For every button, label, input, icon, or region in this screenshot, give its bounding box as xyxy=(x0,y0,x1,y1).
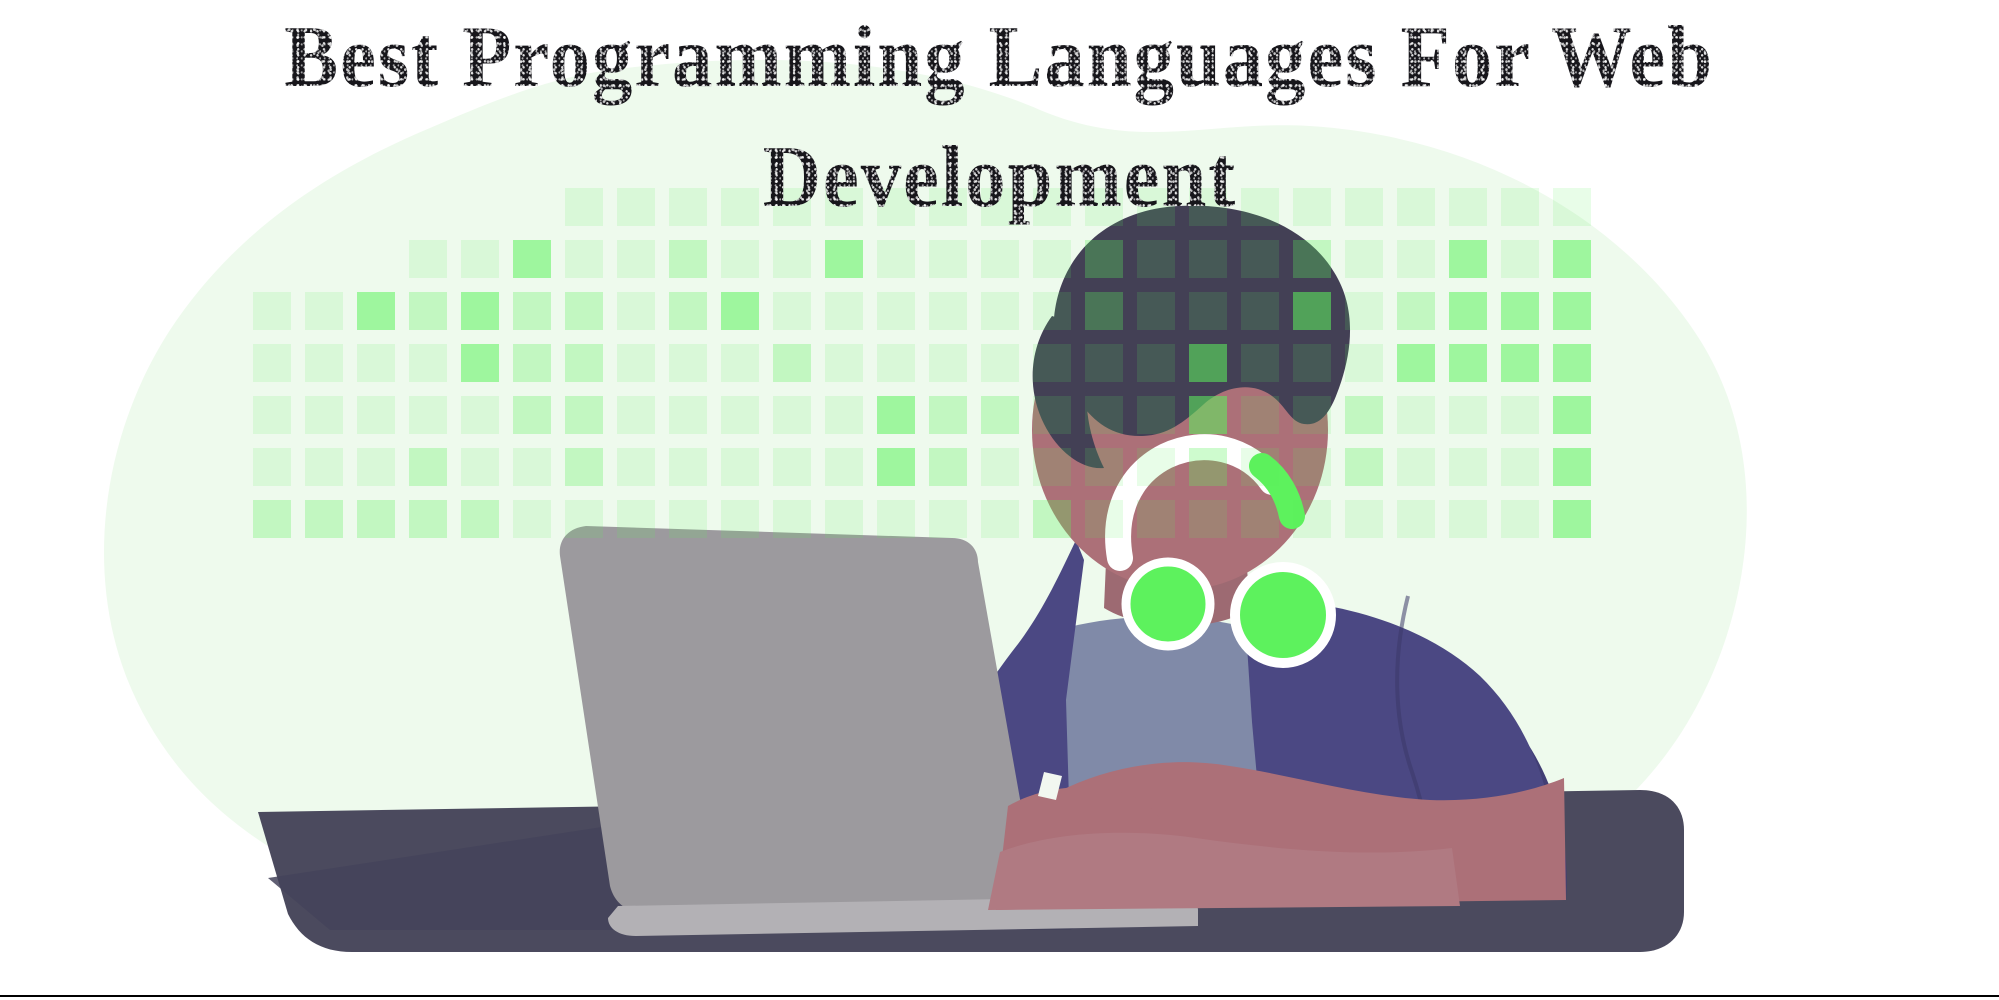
grid-cell xyxy=(1345,448,1383,486)
grid-cell xyxy=(825,344,863,382)
grid-cell xyxy=(565,396,603,434)
grid-cell xyxy=(929,448,967,486)
grid-cell xyxy=(1449,188,1487,226)
grid-cell xyxy=(721,240,759,278)
grid-cell xyxy=(513,500,551,538)
grid-cell xyxy=(565,188,603,226)
grid-cell xyxy=(825,292,863,330)
grid-cell xyxy=(1449,240,1487,278)
grid-cell xyxy=(409,240,447,278)
grid-cell xyxy=(721,344,759,382)
grid-cell xyxy=(773,448,811,486)
grid-cell xyxy=(1553,396,1591,434)
grid-cell xyxy=(1397,500,1435,538)
grid-cell xyxy=(877,448,915,486)
grid-cell xyxy=(1345,240,1383,278)
grid-cell xyxy=(1085,188,1123,226)
grid-cell xyxy=(305,396,343,434)
grid-cell xyxy=(1293,344,1331,382)
grid-cell xyxy=(1345,292,1383,330)
grid-cell xyxy=(1293,448,1331,486)
grid-cell xyxy=(825,188,863,226)
grid-cell xyxy=(1345,344,1383,382)
grid-cell xyxy=(617,500,655,538)
grid-cell xyxy=(877,500,915,538)
grid-cell xyxy=(669,240,707,278)
grid-cell xyxy=(1241,292,1279,330)
grid-cell xyxy=(1137,448,1175,486)
grid-cell xyxy=(669,344,707,382)
grid-cell xyxy=(1345,500,1383,538)
grid-cell xyxy=(253,396,291,434)
grid-cell xyxy=(1085,448,1123,486)
grid-cell xyxy=(981,344,1019,382)
grid-cell xyxy=(981,500,1019,538)
grid-cell xyxy=(1085,396,1123,434)
grid-cell xyxy=(513,240,551,278)
grid-cell xyxy=(461,292,499,330)
grid-cell xyxy=(1553,500,1591,538)
grid-cell xyxy=(565,292,603,330)
grid-cell xyxy=(1137,344,1175,382)
grid-cell xyxy=(1033,396,1071,434)
grid-cell xyxy=(305,344,343,382)
grid-cell xyxy=(1501,344,1539,382)
grid-cell xyxy=(929,240,967,278)
grid-cell xyxy=(773,396,811,434)
grid-cell xyxy=(669,500,707,538)
grid-cell xyxy=(357,396,395,434)
grid-cell xyxy=(721,188,759,226)
grid-cell xyxy=(1501,396,1539,434)
grid-cell xyxy=(825,448,863,486)
grid-cell xyxy=(1137,396,1175,434)
grid-cell xyxy=(513,344,551,382)
grid-cell xyxy=(1397,448,1435,486)
grid-cell xyxy=(1189,500,1227,538)
grid-cell xyxy=(877,292,915,330)
grid-cell xyxy=(1293,188,1331,226)
grid-cell xyxy=(617,240,655,278)
grid-cell xyxy=(721,448,759,486)
grid-cell xyxy=(1189,240,1227,278)
grid-cell xyxy=(981,240,1019,278)
grid-cell xyxy=(461,240,499,278)
grid-cell xyxy=(877,344,915,382)
grid-cell xyxy=(669,396,707,434)
grid-cell xyxy=(565,344,603,382)
grid-cell xyxy=(461,448,499,486)
grid-cell xyxy=(1033,448,1071,486)
grid-cell xyxy=(1449,292,1487,330)
grid-cell xyxy=(981,292,1019,330)
grid-cell xyxy=(773,292,811,330)
grid-cell xyxy=(877,396,915,434)
grid-cell xyxy=(565,448,603,486)
grid-cell xyxy=(1449,500,1487,538)
grid-cell xyxy=(1085,344,1123,382)
grid-cell xyxy=(1293,292,1331,330)
grid-cell xyxy=(669,292,707,330)
grid-cell xyxy=(1449,396,1487,434)
grid-cell xyxy=(721,292,759,330)
grid-cell xyxy=(617,448,655,486)
grid-cell xyxy=(305,500,343,538)
grid-cell xyxy=(1501,292,1539,330)
grid-cell xyxy=(1189,292,1227,330)
grid-cell xyxy=(1449,344,1487,382)
grid-cell xyxy=(357,344,395,382)
grid-cell xyxy=(1241,500,1279,538)
grid-cell xyxy=(617,344,655,382)
grid-cell xyxy=(929,292,967,330)
grid-cell xyxy=(617,396,655,434)
grid-cell xyxy=(1397,240,1435,278)
grid-cell xyxy=(669,448,707,486)
grid-cell xyxy=(1449,448,1487,486)
grid-cell xyxy=(1241,240,1279,278)
grid-cell xyxy=(1033,292,1071,330)
grid-cell xyxy=(409,344,447,382)
grid-cell xyxy=(461,344,499,382)
grid-cell xyxy=(929,344,967,382)
grid-cell xyxy=(1241,396,1279,434)
grid-cell xyxy=(1189,344,1227,382)
grid-cell xyxy=(1189,448,1227,486)
grid-cell xyxy=(513,448,551,486)
grid-cell xyxy=(253,292,291,330)
grid-cell xyxy=(1293,240,1331,278)
grid-cell xyxy=(305,292,343,330)
grid-cell xyxy=(1033,188,1071,226)
grid-cell xyxy=(357,292,395,330)
grid-cell xyxy=(1501,240,1539,278)
grid-cell xyxy=(1553,344,1591,382)
grid-cell xyxy=(305,448,343,486)
grid-cell xyxy=(565,240,603,278)
headphone-earcup-right xyxy=(1235,567,1331,663)
bottom-divider xyxy=(0,995,1999,997)
grid-cell xyxy=(1501,188,1539,226)
grid-cell xyxy=(1085,240,1123,278)
grid-cell xyxy=(1397,188,1435,226)
grid-cell xyxy=(253,500,291,538)
grid-cell xyxy=(773,344,811,382)
grid-cell xyxy=(825,396,863,434)
article-hero-banner: Best Programming Languages For Web Devel… xyxy=(0,0,1999,1000)
grid-cell xyxy=(1293,500,1331,538)
grid-cell xyxy=(929,500,967,538)
grid-cell xyxy=(1241,344,1279,382)
grid-cell xyxy=(721,500,759,538)
grid-cell xyxy=(825,500,863,538)
grid-cell xyxy=(929,396,967,434)
grid-cell xyxy=(981,188,1019,226)
grid-cell xyxy=(929,188,967,226)
grid-cell xyxy=(1553,240,1591,278)
grid-cell xyxy=(773,240,811,278)
grid-cell xyxy=(1033,500,1071,538)
grid-cell xyxy=(253,344,291,382)
grid-cell xyxy=(1137,292,1175,330)
grid-cell xyxy=(877,240,915,278)
grid-cell xyxy=(773,188,811,226)
grid-cell xyxy=(1501,500,1539,538)
grid-cell xyxy=(1085,292,1123,330)
grid-cell xyxy=(1189,396,1227,434)
grid-cell xyxy=(253,448,291,486)
grid-cell xyxy=(1397,292,1435,330)
grid-cell xyxy=(981,448,1019,486)
grid-cell xyxy=(1397,396,1435,434)
grid-cell xyxy=(1293,396,1331,434)
grid-cell xyxy=(825,240,863,278)
grid-cell xyxy=(1033,240,1071,278)
grid-cell xyxy=(565,500,603,538)
grid-cell xyxy=(409,448,447,486)
grid-cell xyxy=(773,500,811,538)
grid-cell xyxy=(357,448,395,486)
grid-cell xyxy=(409,292,447,330)
grid-cell xyxy=(461,396,499,434)
grid-cell xyxy=(1189,188,1227,226)
grid-cell xyxy=(721,396,759,434)
grid-cell xyxy=(513,396,551,434)
grid-cell xyxy=(1137,500,1175,538)
grid-cell xyxy=(1137,240,1175,278)
grid-cell xyxy=(1501,448,1539,486)
grid-cell xyxy=(1137,188,1175,226)
grid-cell xyxy=(877,188,915,226)
grid-cell xyxy=(1553,292,1591,330)
grid-cell xyxy=(513,292,551,330)
grid-cell xyxy=(1241,188,1279,226)
grid-cell xyxy=(409,500,447,538)
grid-cell xyxy=(669,188,707,226)
grid-cell xyxy=(617,292,655,330)
grid-cell xyxy=(981,396,1019,434)
grid-cell xyxy=(409,396,447,434)
grid-cell xyxy=(1553,448,1591,486)
grid-cell xyxy=(357,500,395,538)
laptop-lid xyxy=(560,526,1040,912)
grid-cell xyxy=(1085,500,1123,538)
grid-cell xyxy=(1553,188,1591,226)
grid-cell xyxy=(1397,344,1435,382)
grid-cell xyxy=(617,188,655,226)
grid-cell xyxy=(1241,448,1279,486)
grid-cell xyxy=(1033,344,1071,382)
grid-cell xyxy=(1345,188,1383,226)
grid-cell xyxy=(1345,396,1383,434)
grid-cell xyxy=(461,500,499,538)
headphone-earcup-left xyxy=(1126,562,1210,646)
